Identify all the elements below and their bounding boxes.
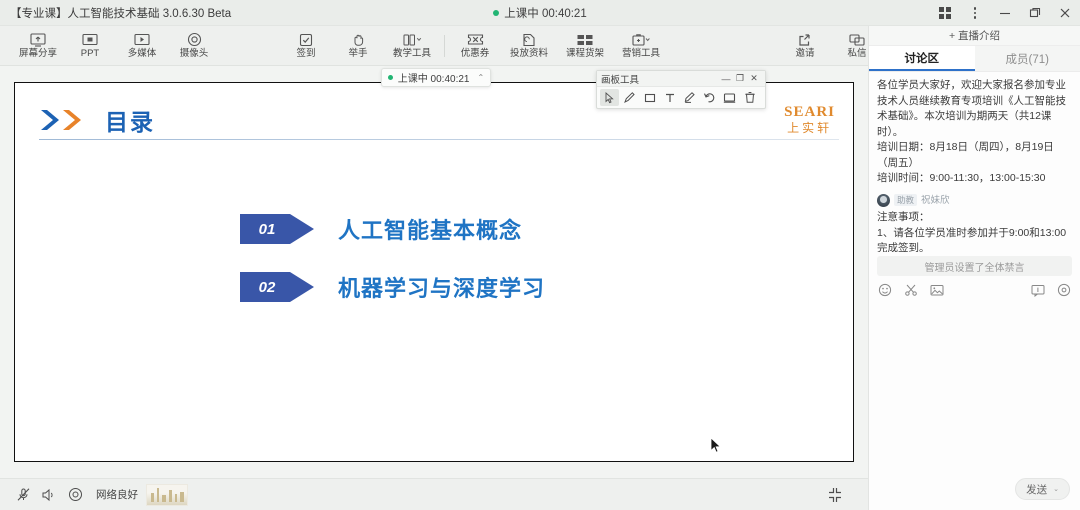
agenda-item: 02 机器学习与深度学习 — [240, 271, 545, 303]
live-status-dot — [493, 10, 499, 16]
right-side-panel: + 直播介绍 讨论区 成员(71) 各位学员大家好，欢迎大家报名参加专业技术人员… — [868, 26, 1080, 510]
camera-icon — [187, 32, 202, 47]
role-badge: 助教 — [894, 194, 917, 206]
delete-tool[interactable] — [740, 89, 759, 106]
send-button-label: 发送 — [1026, 482, 1047, 497]
class-status-text: 上课中 00:40:21 — [504, 5, 586, 21]
chat-message-list[interactable]: 各位学员大家好，欢迎大家报名参加专业技术人员继续教育专项培训《人工智能技术基础》… — [869, 72, 1080, 252]
tab-discussion[interactable]: 讨论区 — [869, 46, 975, 71]
toolbar-item-course-shelf[interactable]: 课程货架 — [557, 26, 613, 66]
check-in-icon — [299, 32, 313, 47]
toolbar-label: 摄像头 — [180, 48, 209, 59]
image-icon[interactable] — [929, 282, 945, 298]
drawing-tool-row — [597, 87, 765, 108]
agenda-label: 人工智能基本概念 — [338, 213, 522, 245]
drawing-panel-header[interactable]: 画板工具 — ❐ ✕ — [597, 71, 765, 87]
course-shelf-icon — [576, 32, 594, 47]
toolbar-item-invite[interactable]: 邀请 — [779, 26, 831, 66]
rectangle-tool[interactable] — [640, 89, 659, 106]
floating-class-timer[interactable]: 上课中 00:40:21 ⌃ — [381, 68, 491, 87]
drawing-tools-panel: 画板工具 — ❐ ✕ — [596, 70, 766, 109]
speaker-icon[interactable] — [36, 482, 62, 508]
network-status-label: 网络良好 — [96, 487, 138, 502]
ppt-icon — [82, 32, 98, 47]
eraser-tool[interactable] — [680, 89, 699, 106]
sender-name: 祝妹欣 — [921, 193, 950, 209]
emoji-icon[interactable] — [877, 282, 893, 298]
live-status-dot — [388, 75, 393, 80]
logo-text-cn: 上实轩 — [784, 122, 835, 134]
panel-tabs: 讨论区 成员(71) — [869, 46, 1080, 72]
presentation-stage: 目录 SEARI 上实轩 01 人工智能基本概念 02 机器学习与深度学习 — [0, 66, 868, 478]
toolbar-label: 课程货架 — [566, 48, 604, 59]
drawing-panel-close[interactable]: ✕ — [747, 73, 761, 84]
maximize-button[interactable] — [1020, 0, 1050, 26]
toolbar-item-screen-share[interactable]: 屏幕分享 — [12, 26, 64, 66]
toolbar-item-camera[interactable]: 摄像头 — [168, 26, 220, 66]
chat-message-body: 各位学员大家好，欢迎大家报名参加专业技术人员继续教育专项培训《人工智能技术基础》… — [877, 78, 1072, 187]
marketing-tools-icon — [631, 32, 651, 47]
toolbar-label: 投放资料 — [510, 48, 548, 59]
drawing-panel-minimize[interactable]: — — [719, 74, 733, 84]
send-row: 发送 ⌄ — [869, 478, 1080, 510]
more-options-icon[interactable] — [960, 0, 990, 26]
multimedia-icon — [134, 32, 150, 47]
toolbar-label: 签到 — [296, 48, 315, 59]
title-bar: 【专业课】人工智能技术基础 3.0.6.30 Beta 上课中 00:40:21 — [0, 0, 1080, 26]
agenda-label: 机器学习与深度学习 — [338, 271, 545, 303]
toolbar-label: 优惠券 — [461, 48, 490, 59]
chat-message: 各位学员大家好，欢迎大家报名参加专业技术人员继续教育专项培训《人工智能技术基础》… — [877, 78, 1072, 187]
live-class-app: 【专业课】人工智能技术基础 3.0.6.30 Beta 上课中 00:40:21 — [0, 0, 1080, 510]
exit-fullscreen-icon[interactable] — [822, 482, 848, 508]
agenda-number: 02 — [240, 272, 290, 302]
toolbar-item-check-in[interactable]: 签到 — [280, 26, 332, 66]
bottom-status-bar: 网络良好 — [0, 478, 868, 510]
send-material-icon — [522, 32, 536, 47]
microphone-muted-icon[interactable] — [10, 482, 36, 508]
camera-icon[interactable] — [62, 482, 88, 508]
agenda-arrow-icon — [290, 272, 314, 302]
seari-logo: SEARI 上实轩 — [784, 105, 835, 134]
invite-icon — [798, 32, 812, 47]
toolbar-label: 举手 — [348, 48, 367, 59]
chevron-down-icon[interactable]: ⌄ — [1053, 485, 1059, 493]
whiteboard-tool[interactable] — [720, 89, 739, 106]
toolbar-label: PPT — [81, 48, 99, 59]
toolbar-label: 多媒体 — [128, 48, 157, 59]
chat-toolbar — [869, 276, 1080, 304]
toolbar-divider — [444, 35, 445, 57]
raise-hand-icon — [351, 32, 365, 47]
chat-message-header: 助教 祝妹欣 — [877, 193, 1072, 209]
select-cursor-tool[interactable] — [600, 89, 619, 106]
drawing-panel-restore[interactable]: ❐ — [733, 73, 747, 84]
coupon-icon — [467, 32, 484, 47]
chevron-decor-icon — [39, 107, 95, 133]
chat-message-body: 注意事项： 1、请各位学员准时参加并于9:00和13:00完成签到。 2、学员修… — [877, 210, 1072, 252]
slide-header: 目录 — [39, 103, 155, 137]
app-title: 【专业课】人工智能技术基础 3.0.6.30 Beta — [0, 5, 231, 21]
private-message-icon — [849, 32, 865, 47]
toolbar-label: 营销工具 — [622, 48, 660, 59]
toolbar-item-raise-hand[interactable]: 举手 — [332, 26, 384, 66]
logo-text-en: SEARI — [784, 105, 835, 120]
slide-title-rule — [39, 139, 839, 140]
toolbar-item-ppt[interactable]: PPT — [64, 26, 116, 66]
chevron-up-icon[interactable]: ⌃ — [478, 73, 485, 82]
toolbar-label: 教学工具 — [393, 48, 431, 59]
minimize-button[interactable] — [990, 0, 1020, 26]
mute-notice: 管理员设置了全体禁言 — [877, 256, 1072, 276]
self-view-thumbnail[interactable] — [146, 484, 188, 506]
chat-input[interactable] — [869, 304, 1080, 478]
screen-share-icon — [30, 32, 46, 47]
floating-timer-text: 上课中 00:40:21 — [398, 70, 470, 85]
toolbar-label: 邀请 — [795, 48, 814, 59]
agenda-item: 01 人工智能基本概念 — [240, 213, 545, 245]
toolbar-item-send-material[interactable]: 投放资料 — [501, 26, 557, 66]
agenda-list: 01 人工智能基本概念 02 机器学习与深度学习 — [240, 213, 545, 329]
toolbar-item-teaching-tools[interactable]: 教学工具 — [384, 26, 440, 66]
slide-title: 目录 — [105, 103, 155, 137]
toolbar-label: 私信 — [847, 48, 866, 59]
undo-tool[interactable] — [700, 89, 719, 106]
agenda-arrow-icon — [290, 214, 314, 244]
settings-circle-icon[interactable] — [1056, 282, 1072, 298]
chat-message: 助教 祝妹欣 注意事项： 1、请各位学员准时参加并于9:00和13:00完成签到… — [877, 193, 1072, 253]
close-button[interactable] — [1050, 0, 1080, 26]
toolbar-item-marketing-tools[interactable]: 营销工具 — [613, 26, 669, 66]
toolbar-item-multimedia[interactable]: 多媒体 — [116, 26, 168, 66]
toolbar-left-group: 屏幕分享 PPT 多媒体 — [12, 26, 220, 66]
window-controls — [930, 0, 1080, 26]
chat-bubble-icon[interactable] — [1030, 282, 1046, 298]
toolbar-item-coupon[interactable]: 优惠券 — [449, 26, 501, 66]
chat-scrollbar-track[interactable] — [1076, 118, 1079, 252]
tab-members[interactable]: 成员(71) — [975, 46, 1080, 71]
grid-view-icon[interactable] — [930, 0, 960, 26]
agenda-number: 01 — [240, 214, 290, 244]
toolbar-center-group: 签到 举手 教学工具 — [280, 26, 669, 66]
drawing-panel-title: 画板工具 — [601, 72, 719, 86]
teaching-tools-icon — [402, 32, 422, 47]
toolbar-label: 屏幕分享 — [19, 48, 57, 59]
text-tool[interactable] — [660, 89, 679, 106]
pen-tool[interactable] — [620, 89, 639, 106]
scissors-icon[interactable] — [903, 282, 919, 298]
avatar — [877, 194, 890, 207]
live-intro-button[interactable]: + 直播介绍 — [869, 26, 1080, 46]
slide-canvas[interactable]: 目录 SEARI 上实轩 01 人工智能基本概念 02 机器学习与深度学习 — [14, 82, 854, 462]
send-button[interactable]: 发送 ⌄ — [1015, 478, 1070, 500]
